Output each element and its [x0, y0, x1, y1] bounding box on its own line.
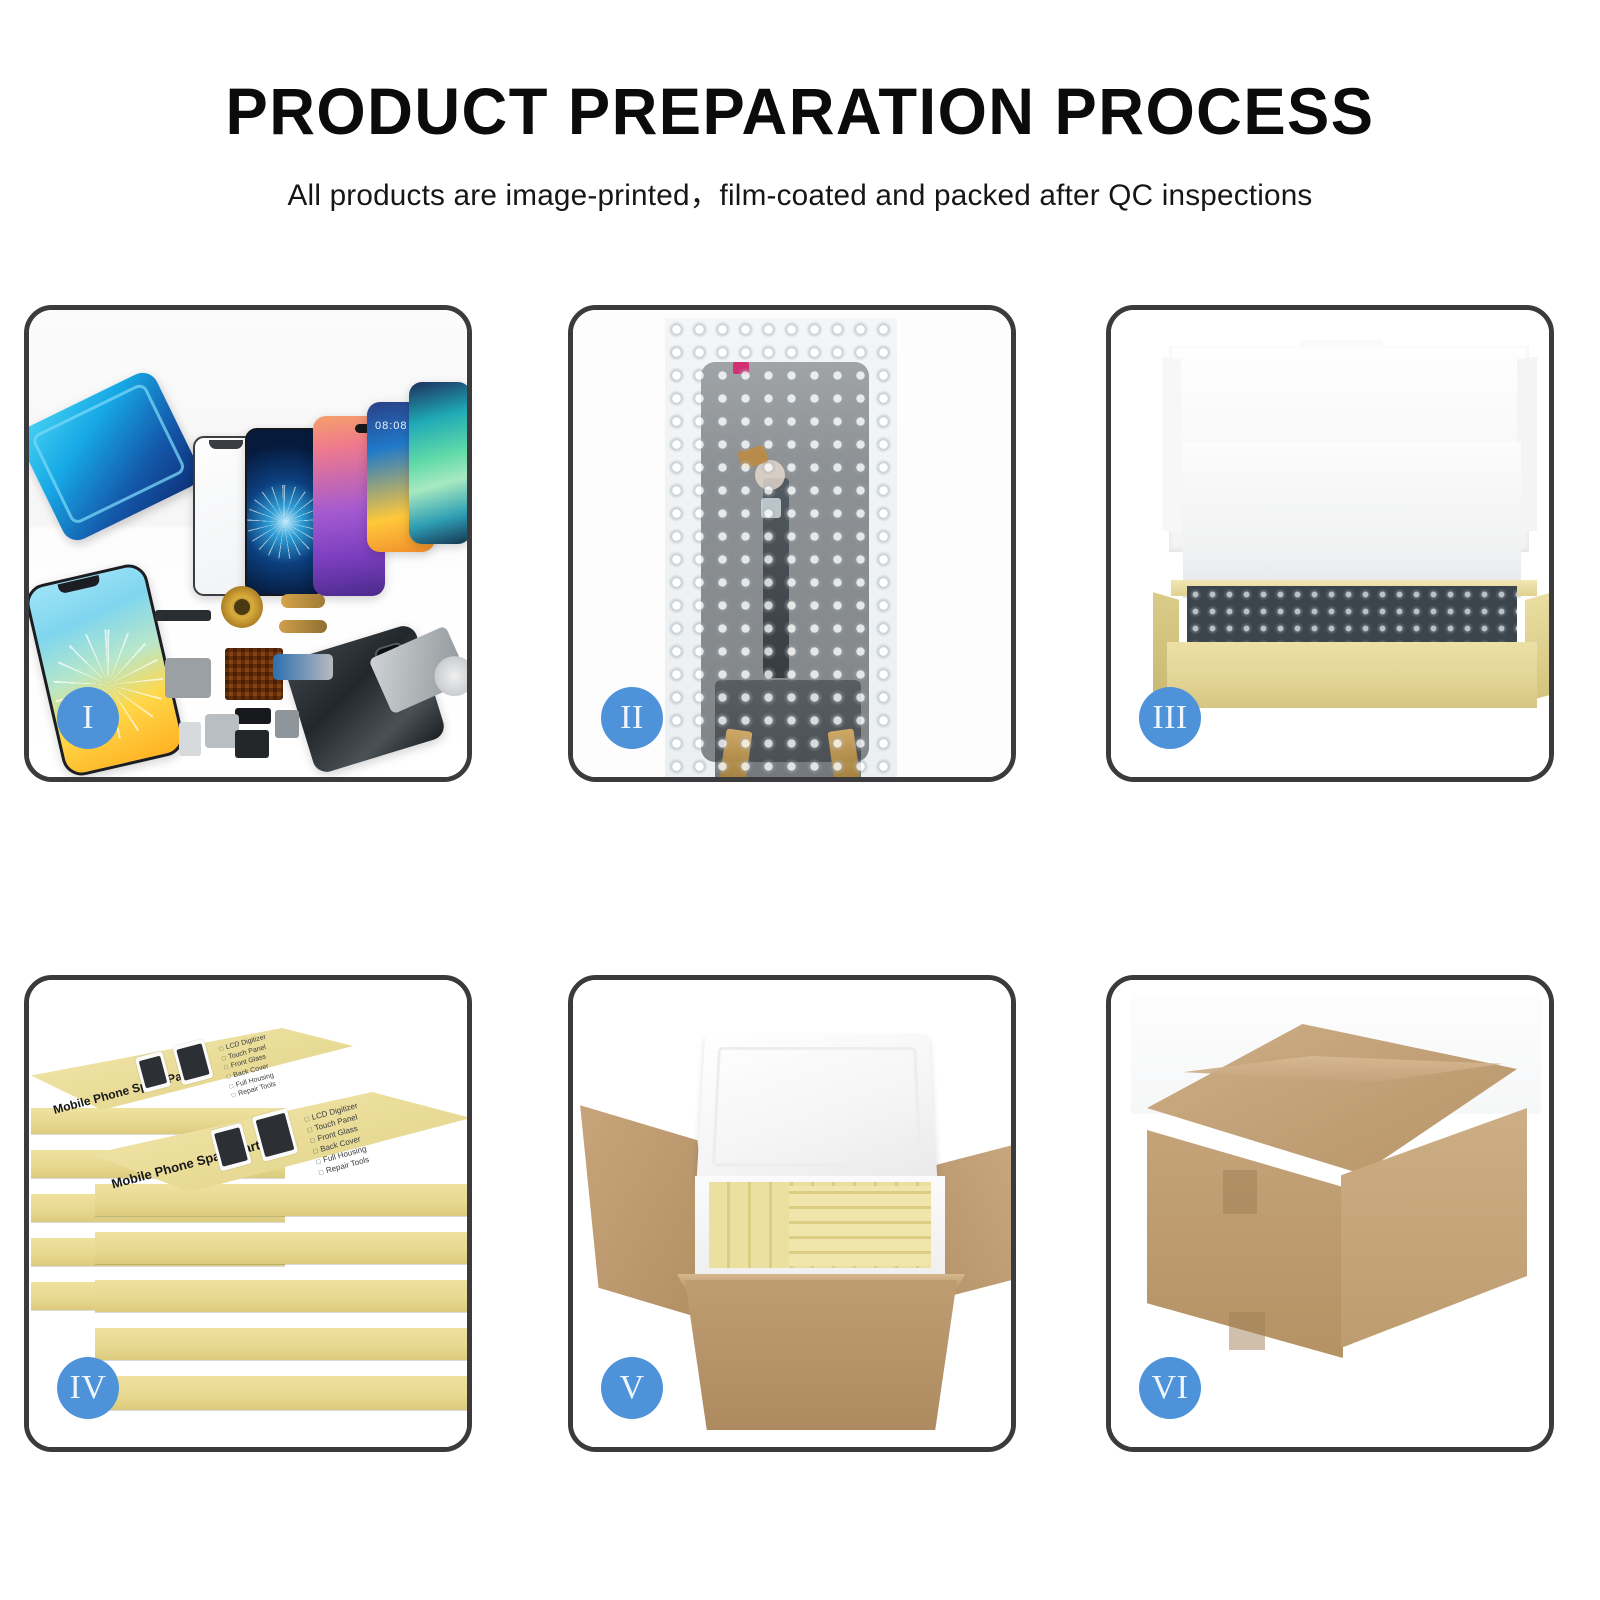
box-front-2 — [95, 1232, 467, 1264]
battery-connector-part — [235, 730, 269, 758]
bubble-wrap-filler — [1187, 586, 1517, 648]
step-badge-3: III — [1139, 687, 1201, 749]
cracked-screen-phone — [245, 428, 323, 596]
carton-seam-lower — [1229, 1312, 1265, 1350]
ribbon-cable-part — [273, 654, 333, 680]
infographic-page: PRODUCT PREPARATION PROCESS All products… — [0, 0, 1600, 1600]
small-connector-part — [235, 708, 271, 724]
step-panel-1[interactable]: 08:08 — [24, 305, 472, 782]
box-front-5 — [95, 1376, 467, 1410]
carton-seam-upper — [1223, 1170, 1257, 1214]
lcd-driver-chip — [761, 498, 781, 518]
step-panel-3[interactable]: III — [1106, 305, 1554, 782]
speaker-mesh-part — [155, 610, 211, 621]
step-badge-6: VI — [1139, 1357, 1201, 1419]
adhesive-frame-part — [29, 367, 205, 545]
foam-cooler-lid — [697, 1034, 938, 1181]
camera-module-part — [165, 658, 211, 698]
process-row-bottom: Mobile Phone Spare Parts LCD Digitizer T… — [24, 975, 1576, 1452]
flex-cable-part-a — [281, 594, 325, 608]
step-badge-5: V — [601, 1357, 663, 1419]
carton-body — [685, 1280, 957, 1430]
page-subtitle: All products are image-printed，film-coat… — [8, 170, 1592, 214]
broken-display-phone — [29, 561, 187, 777]
step-panel-5[interactable]: V — [568, 975, 1016, 1452]
step-badge-2: II — [601, 687, 663, 749]
box-front-3 — [95, 1280, 467, 1312]
flex-cable-part-b — [279, 620, 327, 633]
metal-bracket-part — [205, 714, 239, 748]
lcd-connector — [755, 460, 785, 490]
foam-sheet — [1183, 442, 1521, 598]
phone-clock-label: 08:08 — [375, 420, 408, 432]
vibrator-motor-part — [275, 710, 299, 738]
wireless-coil-part — [221, 586, 263, 628]
step-badge-4: IV — [57, 1357, 119, 1419]
box-front-4 — [95, 1328, 467, 1360]
mailer-tray-front — [1167, 642, 1537, 708]
step-panel-4[interactable]: Mobile Phone Spare Parts LCD Digitizer T… — [24, 975, 472, 1452]
packed-gold-boxes-row-b — [789, 1186, 931, 1266]
sim-tray-part — [179, 722, 201, 756]
qc-sticker — [733, 362, 749, 374]
step-badge-1: I — [57, 687, 119, 749]
page-header: PRODUCT PREPARATION PROCESS All products… — [0, 0, 1600, 214]
process-row-top: 08:08 — [24, 305, 1576, 782]
box-front-1 — [95, 1184, 467, 1216]
page-title: PRODUCT PREPARATION PROCESS — [32, 78, 1568, 144]
step-panel-2[interactable]: II — [568, 305, 1016, 782]
green-screen-phone — [409, 382, 467, 544]
step-panel-6[interactable]: VI — [1106, 975, 1554, 1452]
process-steps-grid: 08:08 — [24, 305, 1576, 1452]
